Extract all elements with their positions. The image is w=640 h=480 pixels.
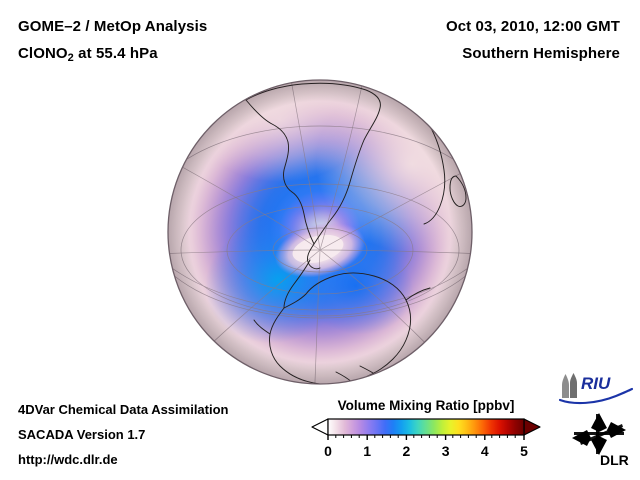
page-title-species: ClONO2 at 55.4 hPa [18,45,158,64]
riu-logo: RIU [556,372,634,406]
colorbar-tick-3: 3 [442,443,450,459]
riu-logo-text: RIU [581,374,611,393]
globe-disc [160,72,480,392]
colorbar-tick-labels: 0 1 2 3 4 5 [306,443,546,463]
field-contours [160,72,480,392]
hemisphere-label: Southern Hemisphere [462,45,620,62]
polar-projection-map [160,72,480,392]
footer-version: SACADA Version 1.7 [18,427,145,442]
colorbar-tick-4: 4 [481,443,489,459]
colorbar-low-cap [312,419,328,435]
colorbar-high-cap [524,419,540,435]
colorbar-tick-0: 0 [324,443,332,459]
species-name: ClONO [18,45,68,62]
species-level: at 55.4 hPa [74,45,158,62]
colorbar-title: Volume Mixing Ratio [ppbv] [306,398,546,413]
dlr-logo-text: DLR [600,452,629,468]
dlr-pinwheel-icon [572,413,626,455]
cathedral-towers-icon [562,373,577,398]
page-title-instrument: GOME–2 / MetOp Analysis [18,18,207,35]
colorbar-tick-2: 2 [402,443,410,459]
colorbar-tick-5: 5 [520,443,528,459]
dlr-logo: DLR [566,410,632,468]
observation-datetime: Oct 03, 2010, 12:00 GMT [446,18,620,35]
colorbar-major-ticks [328,435,524,440]
colorbar: Volume Mixing Ratio [ppbv] [306,398,546,476]
colorbar-tick-1: 1 [363,443,371,459]
colorbar-gradient [306,417,546,443]
footer-method: 4DVar Chemical Data Assimilation [18,402,229,417]
footer-url[interactable]: http://wdc.dlr.de [18,452,118,467]
